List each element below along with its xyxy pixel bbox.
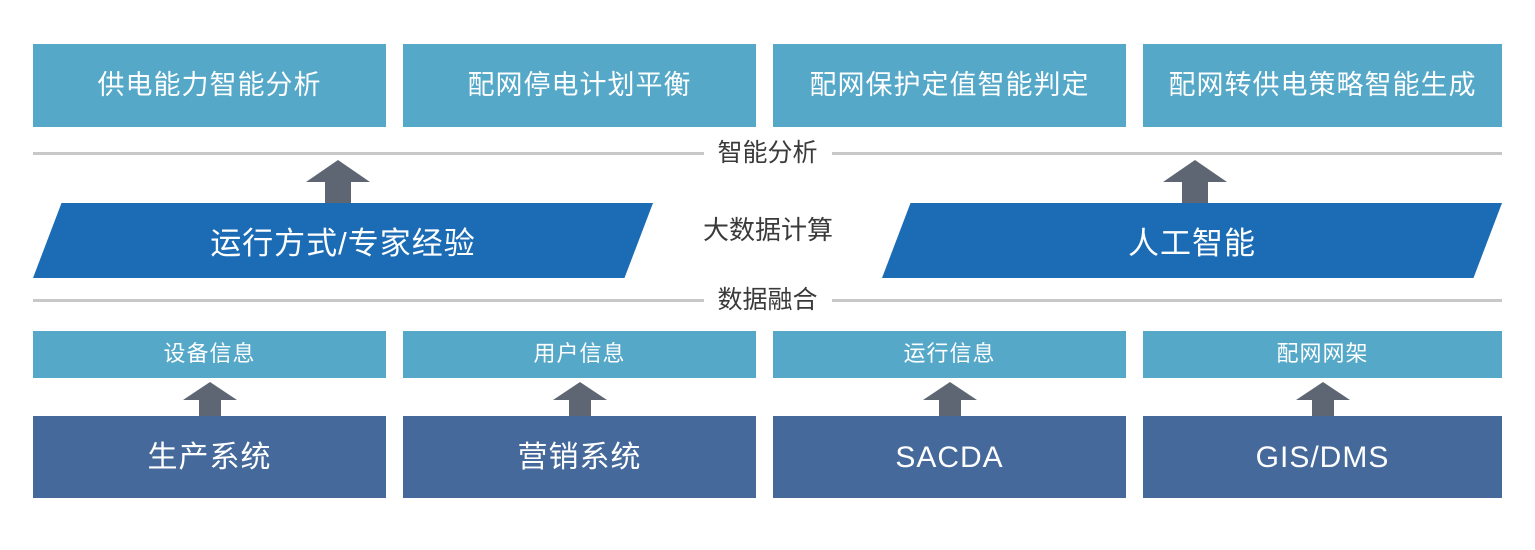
source-system-label: 生产系统 — [148, 441, 272, 474]
analysis-card-label: 配网保护定值智能判定 — [810, 71, 1090, 101]
source-system-label: SACDA — [895, 441, 1003, 474]
analysis-card-label: 供电能力智能分析 — [98, 71, 322, 101]
info-strip-label: 用户信息 — [533, 342, 625, 366]
arrow-head — [1163, 160, 1227, 182]
compute-block-label: 运行方式/专家经验 — [210, 218, 476, 263]
divider-rule-left — [33, 152, 704, 155]
arrow-head — [553, 382, 607, 400]
compute-block-expert-experience[interactable]: 运行方式/专家经验 — [33, 203, 653, 278]
arrow-up-icon-expert-to-analysis — [306, 160, 370, 208]
divider-label-data-fusion: 数据融合 — [704, 280, 832, 316]
analysis-card-transfer-strategy[interactable]: 配网转供电策略智能生成 — [1143, 44, 1502, 127]
info-strip-label: 配网网架 — [1276, 342, 1368, 366]
info-strip-user-info[interactable]: 用户信息 — [403, 331, 756, 378]
divider-intelligent-analysis: 智能分析 — [33, 138, 1502, 168]
divider-rule-right — [832, 299, 1503, 302]
info-strip-label: 设备信息 — [163, 342, 255, 366]
arrow-head — [306, 160, 370, 182]
compute-block-label: 人工智能 — [1128, 218, 1256, 263]
center-label-big-data-computing: 大数据计算 — [648, 210, 888, 247]
analysis-card-label: 配网停电计划平衡 — [468, 71, 692, 101]
analysis-card-protection-setting[interactable]: 配网保护定值智能判定 — [773, 44, 1126, 127]
source-system-label: 营销系统 — [518, 441, 642, 474]
arrow-head — [183, 382, 237, 400]
source-system-label: GIS/DMS — [1256, 441, 1390, 474]
info-strip-grid-structure[interactable]: 配网网架 — [1143, 331, 1502, 378]
info-strip-operation-info[interactable]: 运行信息 — [773, 331, 1126, 378]
source-system-gis-dms[interactable]: GIS/DMS — [1143, 416, 1502, 498]
info-strip-label: 运行信息 — [903, 342, 995, 366]
source-system-marketing[interactable]: 营销系统 — [403, 416, 756, 498]
analysis-card-label: 配网转供电策略智能生成 — [1169, 71, 1477, 101]
info-strip-device-info[interactable]: 设备信息 — [33, 331, 386, 378]
compute-block-artificial-intelligence[interactable]: 人工智能 — [882, 203, 1502, 278]
analysis-card-outage-plan-balance[interactable]: 配网停电计划平衡 — [403, 44, 756, 127]
arrow-head — [1296, 382, 1350, 400]
source-system-sacda[interactable]: SACDA — [773, 416, 1126, 498]
divider-data-fusion: 数据融合 — [33, 285, 1502, 315]
divider-rule-right — [832, 152, 1503, 155]
source-system-production[interactable]: 生产系统 — [33, 416, 386, 498]
divider-rule-left — [33, 299, 704, 302]
arrow-head — [923, 382, 977, 400]
divider-label-intelligent-analysis: 智能分析 — [704, 133, 832, 169]
diagram-canvas: 供电能力智能分析 配网停电计划平衡 配网保护定值智能判定 配网转供电策略智能生成… — [0, 0, 1535, 550]
arrow-up-icon-ai-to-analysis — [1163, 160, 1227, 208]
analysis-card-power-supply-capability[interactable]: 供电能力智能分析 — [33, 44, 386, 127]
